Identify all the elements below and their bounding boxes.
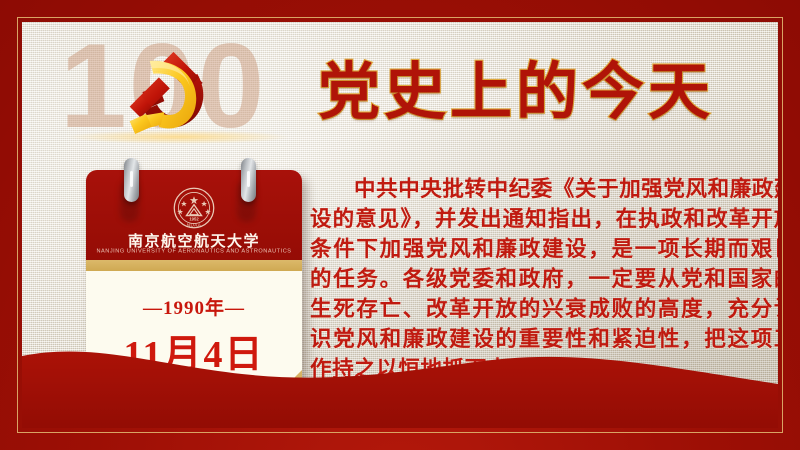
binder-ring-left bbox=[124, 158, 139, 202]
page-title: 党史上的今天 bbox=[318, 62, 714, 124]
calendar-header: 1952 NUAA 南京航空航天大学 NANJING UNIVERSITY OF… bbox=[86, 170, 302, 260]
poster-inner-canvas: 100 bbox=[22, 22, 778, 428]
bottom-red-wave bbox=[22, 338, 778, 428]
svg-text:NUAA: NUAA bbox=[187, 222, 202, 227]
svg-text:1952: 1952 bbox=[189, 217, 199, 222]
calendar-year: —1990年— bbox=[86, 293, 302, 320]
binder-ring-right bbox=[241, 158, 256, 202]
cpc-hammer-sickle-emblem bbox=[122, 50, 214, 134]
poster-canvas: 100 bbox=[0, 0, 800, 450]
calendar-gold-divider bbox=[86, 260, 302, 271]
nuaa-university-seal: 1952 NUAA bbox=[173, 187, 215, 229]
university-name-en: NANJING UNIVERSITY OF AERONAUTICS AND AS… bbox=[86, 248, 302, 254]
